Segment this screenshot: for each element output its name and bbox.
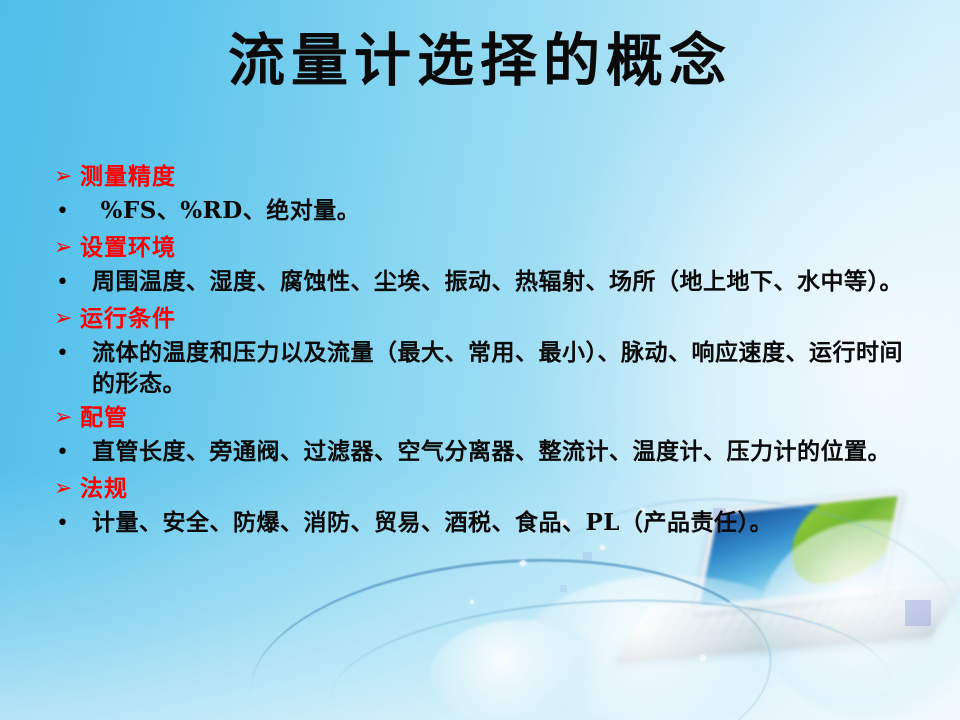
section-heading-row: ➢ 设置环境	[50, 233, 920, 265]
dot-bullet-icon: •	[50, 436, 92, 470]
section-bullet-row: • 周围温度、湿度、腐蚀性、尘埃、振动、热辐射、场所（地上地下、水中等）。	[50, 266, 920, 300]
decorative-square	[560, 585, 567, 592]
dot-bullet-icon: •	[50, 266, 92, 300]
section-heading: 运行条件	[80, 304, 176, 334]
water-stream-1	[243, 542, 780, 720]
arrow-bullet-icon: ➢	[50, 304, 80, 334]
arrow-bullet-icon: ➢	[50, 162, 80, 192]
section-bullet-text: 计量、安全、防爆、消防、贸易、酒税、食品、PL（产品责任）。	[92, 507, 920, 538]
water-splash-3	[430, 620, 610, 720]
content-section: ➢ 法规 • 计量、安全、防爆、消防、贸易、酒税、食品、PL（产品责任）。	[50, 474, 920, 541]
section-bullet-text: 流体的温度和压力以及流量（最大、常用、最小）、脉动、响应速度、运行时间的形态。	[92, 337, 920, 399]
section-bullet-row: • %FS、%RD、绝对量。	[50, 195, 920, 229]
water-splash-2	[760, 520, 960, 720]
water-droplet	[700, 655, 706, 661]
presentation-slide: 流量计选择的概念 ➢ 测量精度 • %FS、%RD、绝对量。 ➢ 设置环境 • …	[0, 0, 960, 720]
water-stream-2	[327, 590, 893, 720]
arrow-bullet-icon: ➢	[50, 233, 80, 263]
arrow-bullet-icon: ➢	[50, 403, 80, 433]
section-heading: 配管	[80, 403, 128, 433]
water-droplet	[470, 600, 474, 604]
section-heading-row: ➢ 运行条件	[50, 304, 920, 336]
section-heading: 法规	[80, 474, 128, 504]
section-bullet-row: • 流体的温度和压力以及流量（最大、常用、最小）、脉动、响应速度、运行时间的形态…	[50, 337, 920, 399]
section-heading-row: ➢ 法规	[50, 474, 920, 506]
section-bullet-row: • 直管长度、旁通阀、过滤器、空气分离器、整流计、温度计、压力计的位置。	[50, 436, 920, 470]
water-droplet	[520, 560, 526, 566]
section-bullet-text: 周围温度、湿度、腐蚀性、尘埃、振动、热辐射、场所（地上地下、水中等）。	[92, 266, 920, 297]
water-splash-1	[520, 575, 820, 720]
dot-bullet-icon: •	[50, 195, 92, 229]
decorative-square	[905, 600, 931, 626]
water-droplet	[600, 545, 605, 550]
content-section: ➢ 设置环境 • 周围温度、湿度、腐蚀性、尘埃、振动、热辐射、场所（地上地下、水…	[50, 233, 920, 300]
section-heading-row: ➢ 测量精度	[50, 162, 920, 194]
decorative-square	[583, 552, 592, 561]
slide-title: 流量计选择的概念	[0, 30, 960, 93]
content-section: ➢ 配管 • 直管长度、旁通阀、过滤器、空气分离器、整流计、温度计、压力计的位置…	[50, 403, 920, 470]
section-bullet-text: %FS、%RD、绝对量。	[92, 195, 920, 226]
slide-body: ➢ 测量精度 • %FS、%RD、绝对量。 ➢ 设置环境 • 周围温度、湿度、腐…	[50, 162, 920, 545]
section-bullet-text: 直管长度、旁通阀、过滤器、空气分离器、整流计、温度计、压力计的位置。	[92, 436, 920, 467]
content-section: ➢ 运行条件 • 流体的温度和压力以及流量（最大、常用、最小）、脉动、响应速度、…	[50, 304, 920, 399]
dot-bullet-icon: •	[50, 507, 92, 541]
section-bullet-row: • 计量、安全、防爆、消防、贸易、酒税、食品、PL（产品责任）。	[50, 507, 920, 541]
section-heading: 测量精度	[80, 162, 176, 192]
content-section: ➢ 测量精度 • %FS、%RD、绝对量。	[50, 162, 920, 229]
section-heading: 设置环境	[80, 233, 176, 263]
laptop-base	[615, 579, 960, 663]
section-heading-row: ➢ 配管	[50, 403, 920, 435]
dot-bullet-icon: •	[50, 337, 92, 371]
arrow-bullet-icon: ➢	[50, 474, 80, 504]
laptop-keyboard	[652, 590, 915, 644]
